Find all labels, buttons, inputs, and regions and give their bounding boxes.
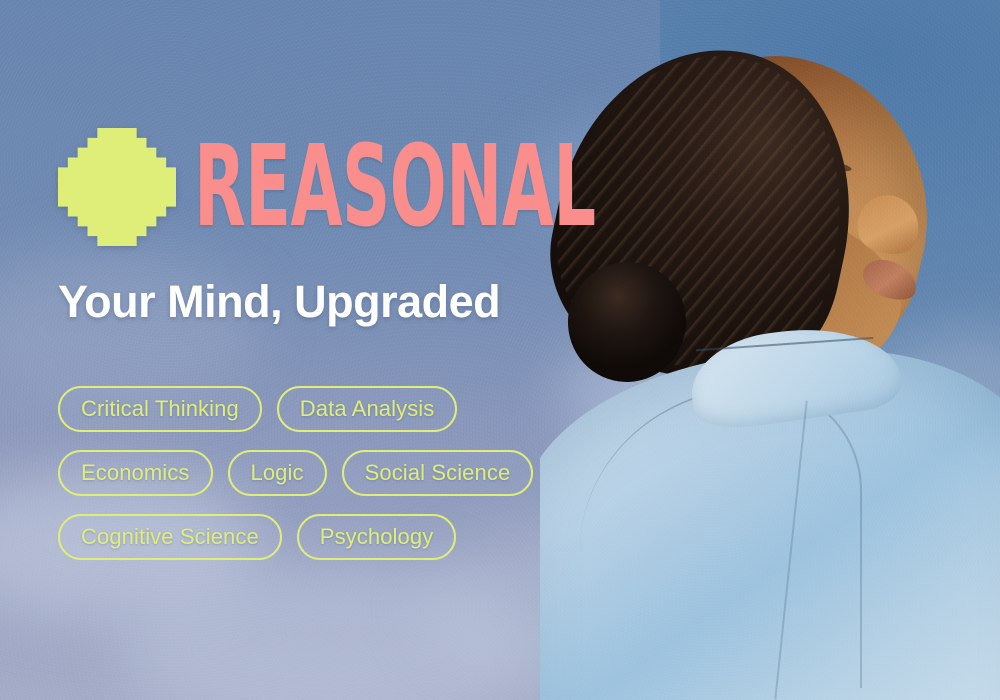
hero-content: REASONAL Your Mind, Upgraded Critical Th… bbox=[0, 0, 560, 700]
topic-tag[interactable]: Psychology bbox=[297, 514, 457, 560]
pixel-cross-icon bbox=[58, 128, 176, 246]
brand-wordmark: REASONAL bbox=[194, 140, 595, 234]
topic-tag-list: Critical Thinking Data Analysis Economic… bbox=[58, 386, 558, 560]
topic-tag[interactable]: Social Science bbox=[342, 450, 534, 496]
hero-photo-subject bbox=[540, 0, 1000, 700]
topic-tag[interactable]: Cognitive Science bbox=[58, 514, 282, 560]
brand-tagline: Your Mind, Upgraded bbox=[58, 276, 500, 328]
topic-tag[interactable]: Critical Thinking bbox=[58, 386, 262, 432]
topic-tag[interactable]: Logic bbox=[228, 450, 327, 496]
hero-banner: REASONAL Your Mind, Upgraded Critical Th… bbox=[0, 0, 1000, 700]
topic-tag[interactable]: Economics bbox=[58, 450, 213, 496]
brand-lockup: REASONAL bbox=[58, 128, 863, 246]
topic-tag[interactable]: Data Analysis bbox=[277, 386, 458, 432]
